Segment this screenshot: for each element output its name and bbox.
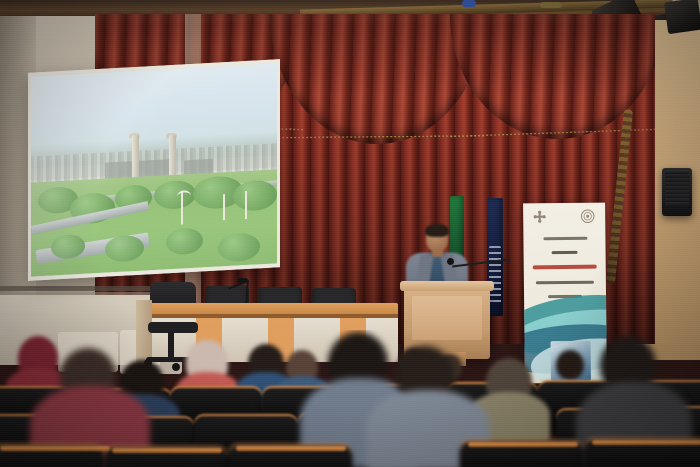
left-emblem-logo-icon xyxy=(532,209,547,224)
flag-emblem-icon xyxy=(489,246,501,304)
rig-marker xyxy=(540,2,562,8)
presenter-hair xyxy=(425,224,449,237)
banner-text-line xyxy=(536,281,594,285)
attendee-head xyxy=(556,350,584,380)
auditorium-photo xyxy=(0,0,700,467)
banner-text-line xyxy=(552,251,578,254)
seat-trim xyxy=(592,440,700,445)
table-microphone-icon xyxy=(238,278,248,283)
podium-microphone-icon xyxy=(447,258,454,265)
wall-trim xyxy=(0,286,150,291)
screen-border xyxy=(28,59,280,281)
banner-heading-line xyxy=(533,265,597,270)
rig-marker xyxy=(462,0,476,7)
right-circular-seal-logo-icon xyxy=(580,209,595,224)
podium-top xyxy=(400,281,494,291)
seat-trim xyxy=(112,448,222,453)
seat-trim xyxy=(468,442,578,447)
seat-trim xyxy=(236,446,346,451)
speaker-grill xyxy=(665,172,689,206)
ceiling-loudspeaker xyxy=(664,0,700,34)
seat-trim xyxy=(0,446,110,451)
banner-text-line xyxy=(543,237,587,240)
seated-audience xyxy=(0,330,700,467)
